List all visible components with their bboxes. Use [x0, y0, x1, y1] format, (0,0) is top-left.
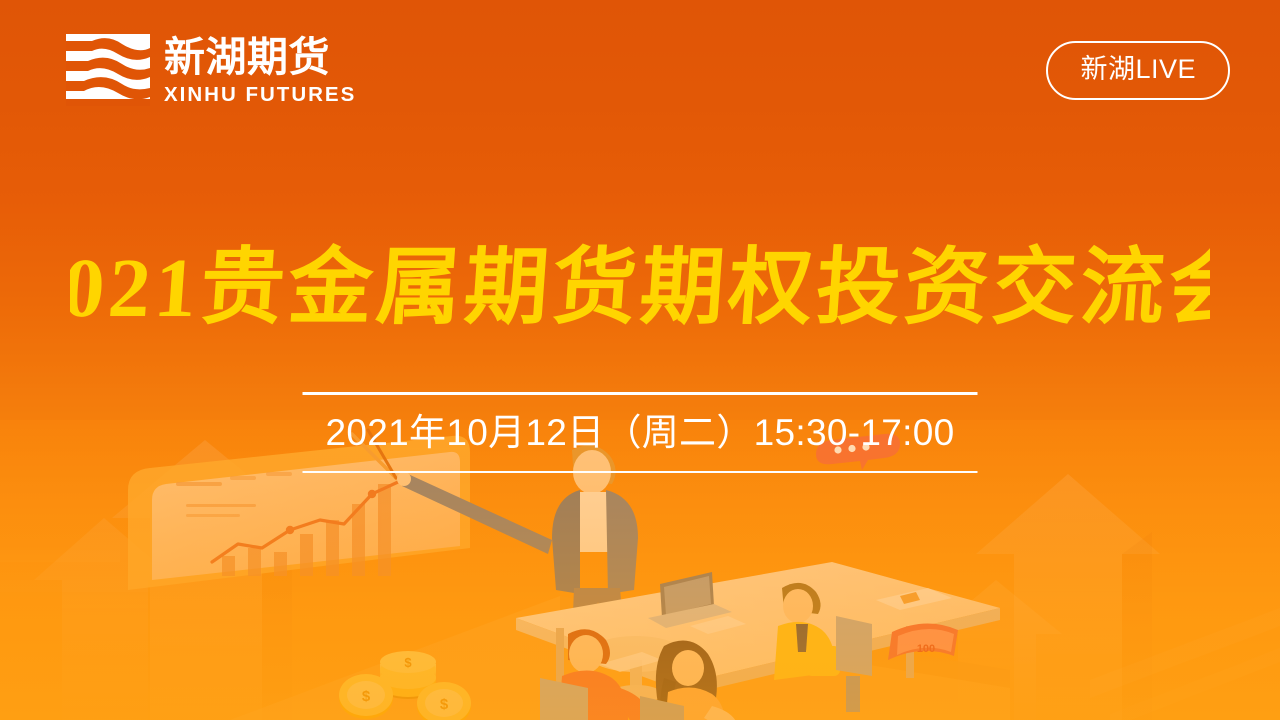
arrow-left-mid [34, 518, 176, 720]
coin-left: $ [339, 674, 393, 719]
main-title-text: 2021贵金属期货期权投资交流会 [70, 242, 1210, 335]
coin-right: $ [417, 682, 471, 720]
arrow-right-tall [976, 474, 1160, 720]
xinhu-wave-logo-icon [66, 34, 150, 106]
diagonal-streaks-left [0, 550, 150, 592]
diagonal-streaks [1090, 608, 1280, 720]
svg-text:$: $ [404, 655, 412, 670]
background-arrows-svg [0, 430, 1280, 720]
gold-coins: $ $ $ [339, 651, 471, 720]
brand-text-block: 新湖期货 XINHU FUTURES [164, 34, 356, 106]
conference-table [516, 562, 1000, 720]
svg-text:$: $ [440, 696, 449, 713]
screen-chart [176, 472, 398, 576]
screen-chart-line [212, 482, 398, 562]
live-badge-button[interactable]: 新湖LIVE [1046, 41, 1230, 100]
coin-stack: $ [380, 651, 436, 699]
event-date-text: 2021年10月12日（周二）15:30-17:00 [303, 395, 978, 471]
date-rule-bottom [303, 471, 978, 474]
presenter [397, 445, 638, 640]
svg-text:100: 100 [917, 643, 935, 655]
laptop [648, 572, 732, 628]
main-title: 2021贵金属期货期权投资交流会 [70, 238, 1210, 344]
screen-chart-bars [222, 484, 391, 576]
background-arrows [0, 430, 1280, 720]
svg-text:$: $ [362, 688, 371, 705]
seated-person-yellow [774, 583, 872, 712]
table-documents [600, 588, 952, 672]
brand-name-cn-text: 新湖期货 [164, 34, 330, 80]
seated-person-woman [640, 641, 738, 720]
seated-person-red [540, 629, 650, 720]
arrow-right-short [932, 580, 1062, 720]
brand-name-cn: 新湖期货 [164, 34, 338, 80]
floor-platform [230, 596, 1010, 720]
main-title-wrap: 2021贵金属期货期权投资交流会 [0, 238, 1280, 344]
brand-logo[interactable]: 新湖期货 XINHU FUTURES [66, 34, 356, 106]
webinar-banner: $ $ $ [0, 0, 1280, 720]
arrow-left-tall [112, 440, 300, 720]
brand-name-en: XINHU FUTURES [164, 85, 356, 106]
banner-header: 新湖期货 XINHU FUTURES 新湖LIVE [0, 0, 1280, 140]
event-date-block: 2021年10月12日（周二）15:30-17:00 [303, 392, 978, 473]
banknotes: 100 [888, 623, 958, 660]
